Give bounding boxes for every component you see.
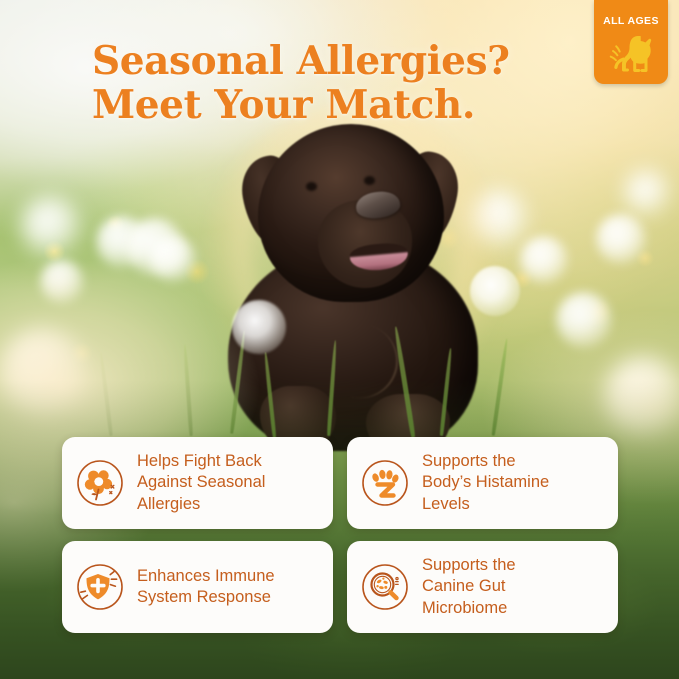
feature-card-text: Helps Fight Back Against Seasonal Allerg… xyxy=(137,451,265,514)
feature-card-text: Supports the Canine Gut Microbiome xyxy=(422,555,516,618)
feature-card-histamine[interactable]: Supports the Body’s Histamine Levels xyxy=(347,437,618,529)
feature-card-text: Enhances Immune System Response xyxy=(137,566,275,608)
poster-canvas: Seasonal Allergies? Meet Your Match. ALL… xyxy=(0,0,679,679)
headline-line-1: Seasonal Allergies? xyxy=(92,38,510,84)
card4-line1: Supports the xyxy=(422,556,516,574)
feature-card-text: Supports the Body’s Histamine Levels xyxy=(422,451,549,514)
paw-print-icon xyxy=(361,459,409,507)
sitting-dog-silhouette-icon xyxy=(605,30,657,74)
card2-line1: Supports the xyxy=(422,452,516,470)
card2-line2: Body’s Histamine xyxy=(422,473,549,491)
all-ages-badge: ALL AGES xyxy=(594,0,668,84)
headline-line-2: Meet Your Match. xyxy=(92,84,562,128)
card1-line2: Against Seasonal xyxy=(137,473,265,491)
feature-card-allergies[interactable]: Helps Fight Back Against Seasonal Allerg… xyxy=(62,437,333,529)
card3-line1: Enhances Immune xyxy=(137,567,275,585)
feature-card-immune[interactable]: Enhances Immune System Response xyxy=(62,541,333,633)
card2-line3: Levels xyxy=(422,495,470,513)
feature-card-microbiome[interactable]: Supports the Canine Gut Microbiome xyxy=(347,541,618,633)
page-title: Seasonal Allergies? Meet Your Match. xyxy=(92,40,562,127)
card4-line3: Microbiome xyxy=(422,599,507,617)
card3-line2: System Response xyxy=(137,588,271,606)
flower-icon xyxy=(76,459,124,507)
magnifier-microbes-icon xyxy=(361,563,409,611)
card4-line2: Canine Gut xyxy=(422,577,505,595)
shield-plus-icon xyxy=(76,563,124,611)
all-ages-badge-label: ALL AGES xyxy=(603,15,659,27)
card1-line3: Allergies xyxy=(137,495,200,513)
card1-line1: Helps Fight Back xyxy=(137,452,262,470)
feature-card-grid: Helps Fight Back Against Seasonal Allerg… xyxy=(62,437,618,633)
